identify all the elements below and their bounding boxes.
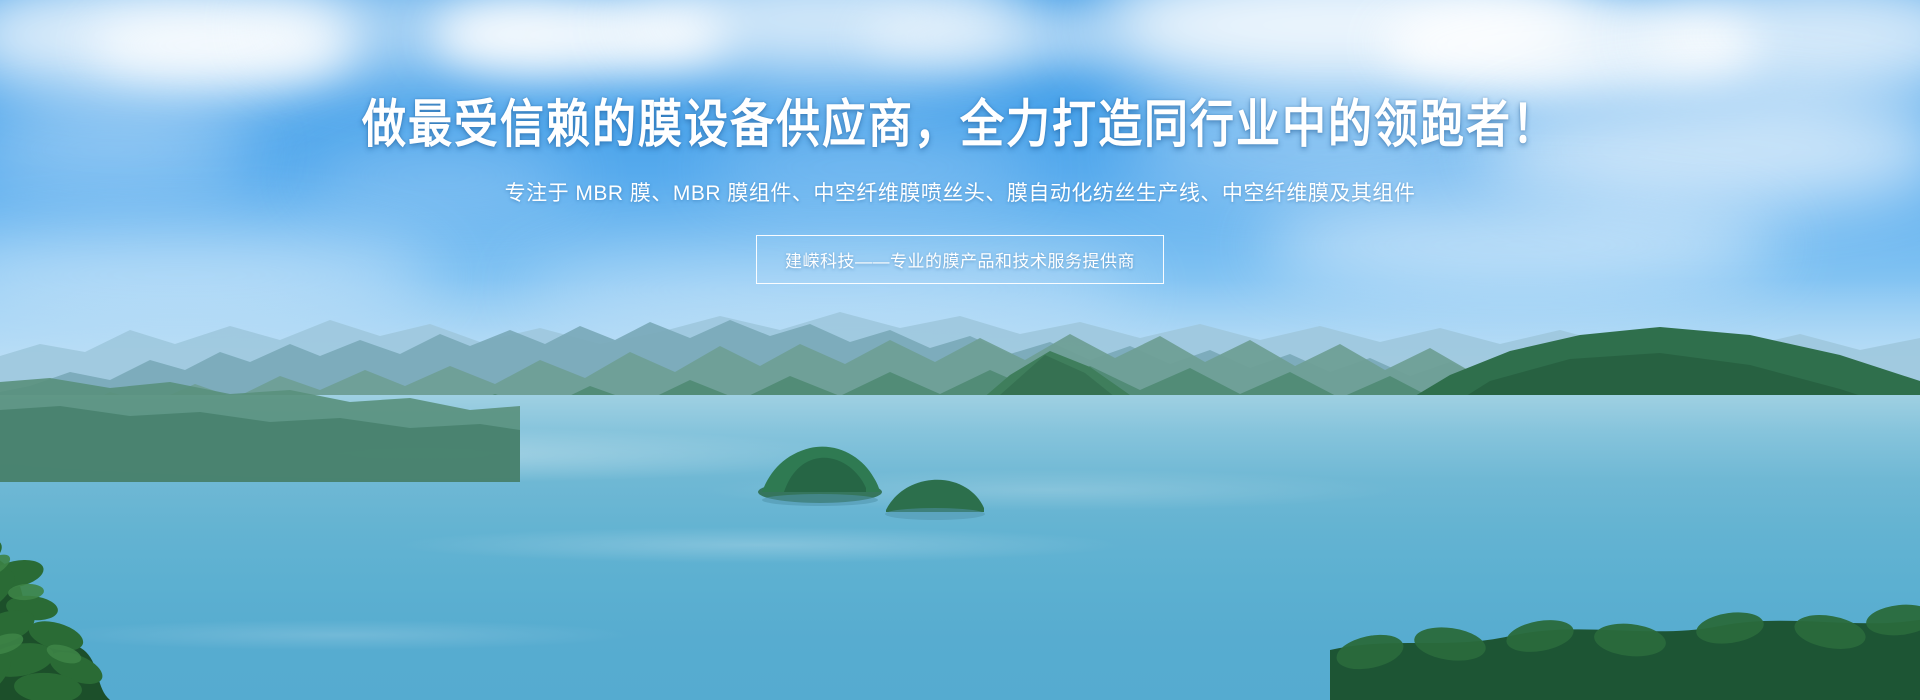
lake-island-small <box>880 462 990 522</box>
hero-subheadline: 专注于 MBR 膜、MBR 膜组件、中空纤维膜喷丝头、膜自动化纺丝生产线、中空纤… <box>505 179 1416 208</box>
hero-headline: 做最受信赖的膜设备供应商，全力打造同行业中的领跑者！ <box>362 96 1558 154</box>
lake-island <box>740 420 900 510</box>
foreground-foliage-right <box>1330 540 1920 700</box>
hero-banner: 做最受信赖的膜设备供应商，全力打造同行业中的领跑者！ 专注于 MBR 膜、MBR… <box>0 0 1920 700</box>
hero-tagline-box: 建嵘科技——专业的膜产品和技术服务提供商 <box>756 235 1164 284</box>
foreground-foliage-left <box>0 432 190 700</box>
